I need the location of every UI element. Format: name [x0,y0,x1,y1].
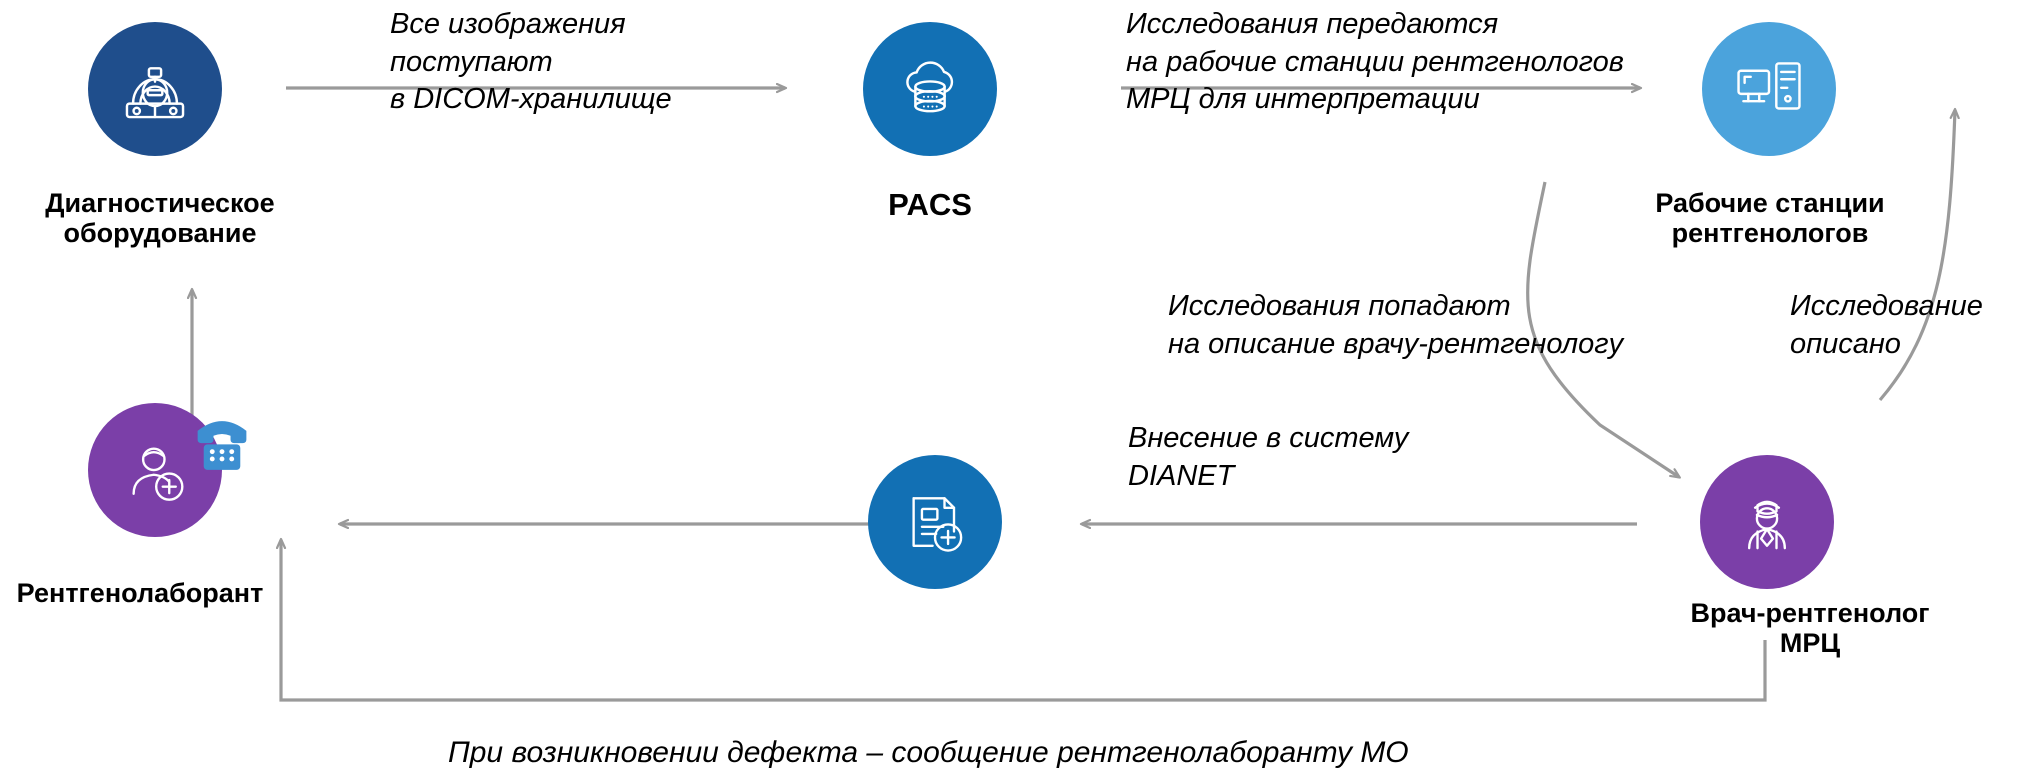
node-label-pacs: PACS [800,188,1060,223]
node-label-radiologist-doctor: Врач-рентгенолог МРЦ [1640,598,1980,658]
workstation-icon [1730,50,1808,128]
node-report-document[interactable] [868,455,1002,589]
node-diagnostic-equipment[interactable] [88,22,222,156]
cloud-database-icon [891,50,969,128]
node-radiologist-workstations[interactable] [1702,22,1836,156]
node-radiologist-doctor[interactable] [1700,455,1834,589]
workflow-diagram: Диагностическое оборудование PACS [0,0,2021,782]
edge-label-workstations-to-doctor: Исследования попадают на описание врачу-… [1168,288,1688,363]
edge-label-pacs-to-workstations: Исследования передаются на рабочие станц… [1126,6,1686,119]
node-label-diagnostic-equipment: Диагностическое оборудование [0,188,320,248]
edge-label-doctor-to-workstations: Исследование описано [1790,288,2021,363]
edge-label-equipment-to-pacs: Все изображения поступают в DICOM-хранил… [390,6,730,119]
defect-feedback-caption: При возникновении дефекта – сообщение ре… [448,736,1409,770]
document-plus-icon [897,484,973,560]
node-label-radiographer: Рентгенолаборант [0,578,290,608]
node-label-radiologist-workstations: Рабочие станции рентгенологов [1600,188,1940,248]
telephone-icon [183,398,261,476]
doctor-icon [1729,484,1805,560]
ct-scanner-icon [116,50,194,128]
edge-label-doctor-to-document: Внесение в систему DIANET [1128,420,1488,495]
radiographer-icon [117,432,193,508]
arrow-defect-feedback [281,540,1765,700]
node-pacs[interactable] [863,22,997,156]
